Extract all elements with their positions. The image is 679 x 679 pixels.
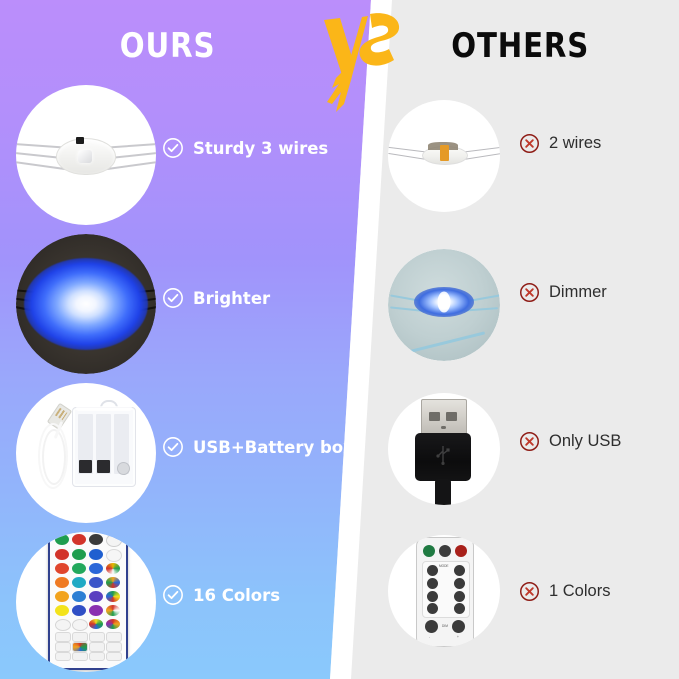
others-feature-1-label: 2 wires [549, 134, 601, 153]
ours-media-3-wire-led [16, 85, 156, 225]
others-feature-2: Dimmer [519, 282, 607, 303]
cross-circle-icon [519, 133, 540, 154]
check-circle-icon [162, 584, 184, 606]
others-media-2-wire-led [388, 100, 500, 212]
others-feature-4: 1 Colors [519, 581, 610, 602]
others-feature-1: 2 wires [519, 133, 601, 154]
cross-circle-icon [519, 282, 540, 303]
cross-circle-icon [519, 431, 540, 452]
others-media-basic-remote: MODE DIM - + [388, 535, 500, 647]
others-feature-3: Only USB [519, 431, 621, 452]
ours-feature-3-label: USB+Battery box [193, 438, 354, 457]
check-circle-icon [162, 436, 184, 458]
ours-feature-4: 16 Colors [162, 584, 280, 606]
minus-label: - [429, 635, 430, 639]
others-feature-4-label: 1 Colors [549, 582, 610, 601]
others-feature-3-label: Only USB [549, 432, 621, 451]
dim-label: DIM [442, 624, 448, 628]
others-feature-2-label: Dimmer [549, 283, 607, 302]
others-title: OTHERS [451, 26, 589, 66]
ours-title: OURS [120, 26, 216, 66]
others-media-dim-led [388, 249, 500, 361]
ours-feature-4-label: 16 Colors [193, 586, 280, 605]
ours-feature-1: Sturdy 3 wires [162, 137, 328, 159]
check-circle-icon [162, 287, 184, 309]
cross-circle-icon [519, 581, 540, 602]
ours-feature-2-label: Brighter [193, 289, 270, 308]
mode-label: MODE [439, 564, 449, 568]
check-circle-icon [162, 137, 184, 159]
others-media-usb-connector [388, 393, 500, 505]
ours-media-usb-battery-box [16, 383, 156, 523]
ours-media-bright-led [16, 234, 156, 374]
ours-media-rgb-remote [16, 532, 156, 672]
ours-feature-1-label: Sturdy 3 wires [193, 139, 328, 158]
vs-icon [310, 8, 406, 112]
ours-feature-2: Brighter [162, 287, 270, 309]
comparison-infographic: OURS OTHERS [0, 0, 679, 679]
plus-label: + [457, 635, 459, 639]
ours-feature-3: USB+Battery box [162, 436, 354, 458]
